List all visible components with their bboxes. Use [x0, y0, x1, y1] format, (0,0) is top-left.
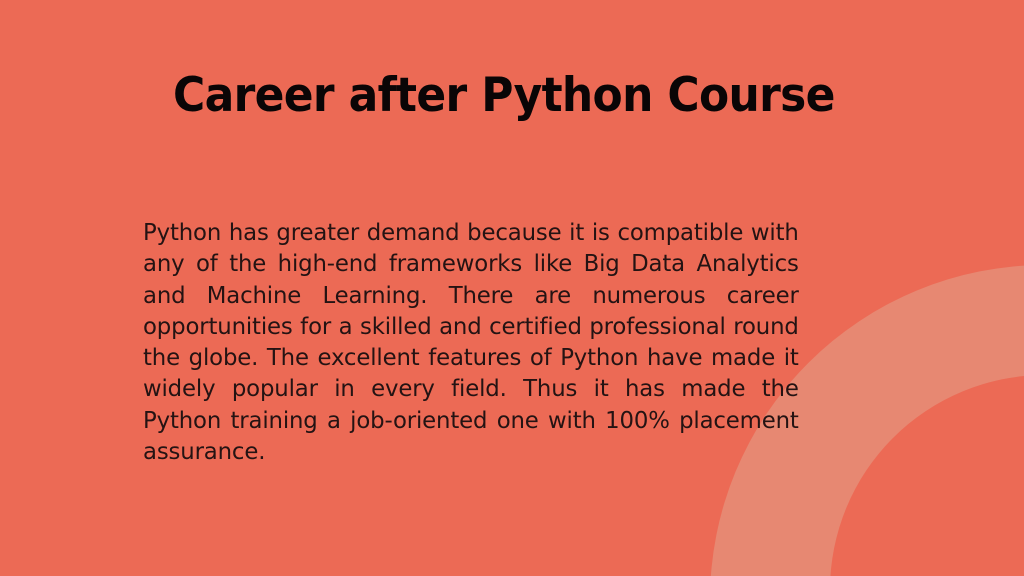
slide-body-text: Python has greater demand because it is …	[143, 217, 799, 499]
slide-title: Career after Python Course	[173, 71, 828, 121]
slide-content: Career after Python Course Python has gr…	[0, 0, 1024, 576]
presentation-slide: Career after Python Course Python has gr…	[0, 0, 1024, 576]
